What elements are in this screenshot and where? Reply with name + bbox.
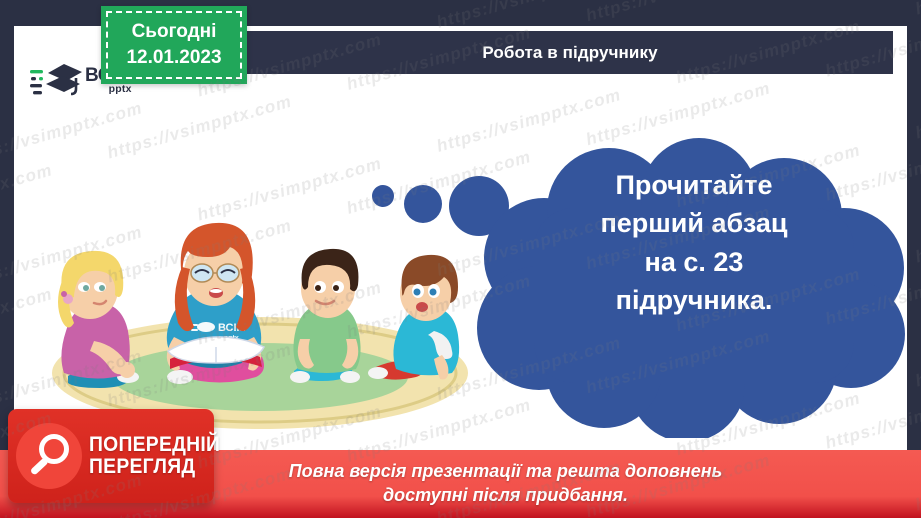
date-badge: Сьогодні 12.01.2023: [101, 6, 247, 84]
magnifier-icon: [16, 423, 82, 489]
thought-trail-bubble-1: [372, 185, 394, 207]
preview-badge-line-1: ПОПЕРЕДНІЙ: [89, 434, 220, 456]
preview-badge-line-2: ПЕРЕГЛЯД: [89, 456, 220, 478]
header-bar: Робота в підручнику: [247, 31, 893, 74]
thought-bubble: Прочитайте перший абзац на с. 23 підручн…: [369, 138, 907, 438]
page-title: Робота в підручнику: [482, 43, 657, 63]
slide-root: ВСІМ pptx: [0, 0, 921, 518]
thought-trail-bubble-2: [404, 185, 442, 223]
graduation-cap-icon: [30, 58, 84, 102]
date-badge-value: 12.01.2023: [126, 45, 221, 71]
teacher-figure: ВСІМ pptx: [167, 223, 264, 384]
purchase-notice-text: Повна версія презентації та решта доповн…: [289, 460, 723, 508]
date-badge-label: Сьогодні: [132, 19, 217, 45]
purchase-notice-line-1: Повна версія презентації та решта доповн…: [289, 460, 723, 484]
preview-badge-label: ПОПЕРЕДНІЙ ПЕРЕГЛЯД: [89, 434, 220, 478]
child-blonde-girl: [58, 251, 139, 388]
purchase-notice-line-2: доступні після придбання.: [289, 484, 723, 508]
child-dark-hair-boy: [290, 249, 361, 383]
preview-badge[interactable]: ПОПЕРЕДНІЙ ПЕРЕГЛЯД: [8, 409, 214, 503]
